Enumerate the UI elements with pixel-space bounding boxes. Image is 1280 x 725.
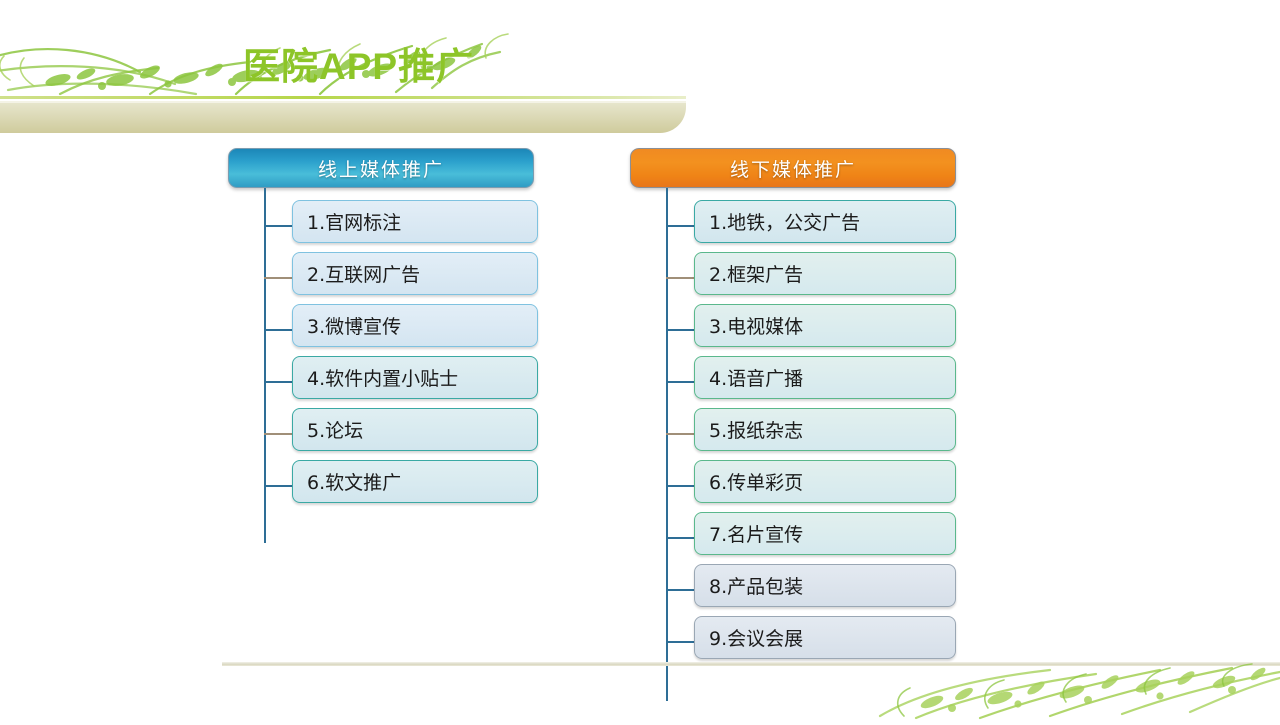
item-label: 7.名片宣传 (709, 520, 803, 547)
item-box[interactable]: 6.传单彩页 (694, 460, 956, 503)
column-header-online[interactable]: 线上媒体推广 线上媒体推广 (228, 148, 534, 188)
tree-connector-line (666, 433, 694, 435)
tree-connector-line (264, 329, 292, 331)
column-offline: 线下媒体推广 1.地铁，公交广告 2.框架广告 (630, 148, 956, 188)
column-online: 线上媒体推广 线上媒体推广 1.官网标注 2.互联网广告 (228, 148, 534, 188)
list-item[interactable]: 6.传单彩页 (694, 460, 1020, 512)
item-label: 5.报纸杂志 (709, 416, 803, 443)
list-item[interactable]: 9.会议会展 (694, 616, 1020, 668)
item-box[interactable]: 3.微博宣传 (292, 304, 538, 347)
item-box[interactable]: 6.软文推广 (292, 460, 538, 503)
item-box[interactable]: 9.会议会展 (694, 616, 956, 659)
item-list-online: 1.官网标注 2.互联网广告 3.微博宣传 (292, 200, 598, 512)
list-item[interactable]: 4.语音广播 (694, 356, 1020, 408)
item-label: 1.地铁，公交广告 (709, 208, 860, 235)
item-box[interactable]: 4.软件内置小贴士 (292, 356, 538, 399)
list-item[interactable]: 2.框架广告 (694, 252, 1020, 304)
column-header-offline[interactable]: 线下媒体推广 (630, 148, 956, 188)
tree-trunk-line (666, 188, 668, 701)
list-item[interactable]: 3.电视媒体 (694, 304, 1020, 356)
item-label: 4.语音广播 (709, 364, 803, 391)
footer-rule (222, 662, 1280, 666)
list-item[interactable]: 1.地铁，公交广告 (694, 200, 1020, 252)
item-label: 3.微博宣传 (307, 312, 401, 339)
item-label: 1.官网标注 (307, 208, 401, 235)
tree-connector-line (666, 537, 694, 539)
list-item[interactable]: 5.报纸杂志 (694, 408, 1020, 460)
item-label: 2.框架广告 (709, 260, 803, 287)
slide-canvas: 医院APP推广 线上媒体推广 线上媒体推广 1.官网标注 (0, 0, 1280, 720)
tree-connector-line (264, 277, 292, 279)
item-box[interactable]: 8.产品包装 (694, 564, 956, 607)
tree-connector-line (666, 589, 694, 591)
item-box[interactable]: 5.报纸杂志 (694, 408, 956, 451)
tree-connector-line (666, 381, 694, 383)
list-item[interactable]: 1.官网标注 (292, 200, 598, 252)
item-box[interactable]: 1.官网标注 (292, 200, 538, 243)
tree-connector-line (264, 485, 292, 487)
item-box[interactable]: 7.名片宣传 (694, 512, 956, 555)
tree-connector-line (264, 381, 292, 383)
tree-connector-line (666, 485, 694, 487)
list-item[interactable]: 7.名片宣传 (694, 512, 1020, 564)
item-label: 3.电视媒体 (709, 312, 803, 339)
item-box[interactable]: 5.论坛 (292, 408, 538, 451)
item-label: 9.会议会展 (709, 624, 803, 651)
list-item[interactable]: 8.产品包装 (694, 564, 1020, 616)
list-item[interactable]: 5.论坛 (292, 408, 598, 460)
tree-trunk-line (264, 188, 266, 543)
item-label: 6.传单彩页 (709, 468, 803, 495)
item-list-offline: 1.地铁，公交广告 2.框架广告 3.电视媒体 (694, 200, 1020, 668)
column-header-label: 线下媒体推广 (730, 155, 856, 182)
item-label: 8.产品包装 (709, 572, 803, 599)
tree-connector-line (666, 277, 694, 279)
item-box[interactable]: 2.框架广告 (694, 252, 956, 295)
tree-connector-line (264, 433, 292, 435)
item-label: 4.软件内置小贴士 (307, 364, 458, 391)
item-box[interactable]: 1.地铁，公交广告 (694, 200, 956, 243)
tree-connector-line (666, 225, 694, 227)
item-box[interactable]: 2.互联网广告 (292, 252, 538, 295)
item-box[interactable]: 4.语音广播 (694, 356, 956, 399)
list-item[interactable]: 4.软件内置小贴士 (292, 356, 598, 408)
item-label: 5.论坛 (307, 416, 363, 443)
list-item[interactable]: 2.互联网广告 (292, 252, 598, 304)
item-label: 6.软文推广 (307, 468, 401, 495)
tree-connector-line (666, 329, 694, 331)
tree-connector-line (264, 225, 292, 227)
list-item[interactable]: 3.微博宣传 (292, 304, 598, 356)
item-box[interactable]: 3.电视媒体 (694, 304, 956, 347)
tree-connector-line (666, 641, 694, 643)
column-header-label: 线上媒体推广 (318, 155, 444, 182)
promotion-diagram: 线上媒体推广 线上媒体推广 1.官网标注 2.互联网广告 (0, 0, 1280, 720)
item-label: 2.互联网广告 (307, 260, 420, 287)
list-item[interactable]: 6.软文推广 (292, 460, 598, 512)
